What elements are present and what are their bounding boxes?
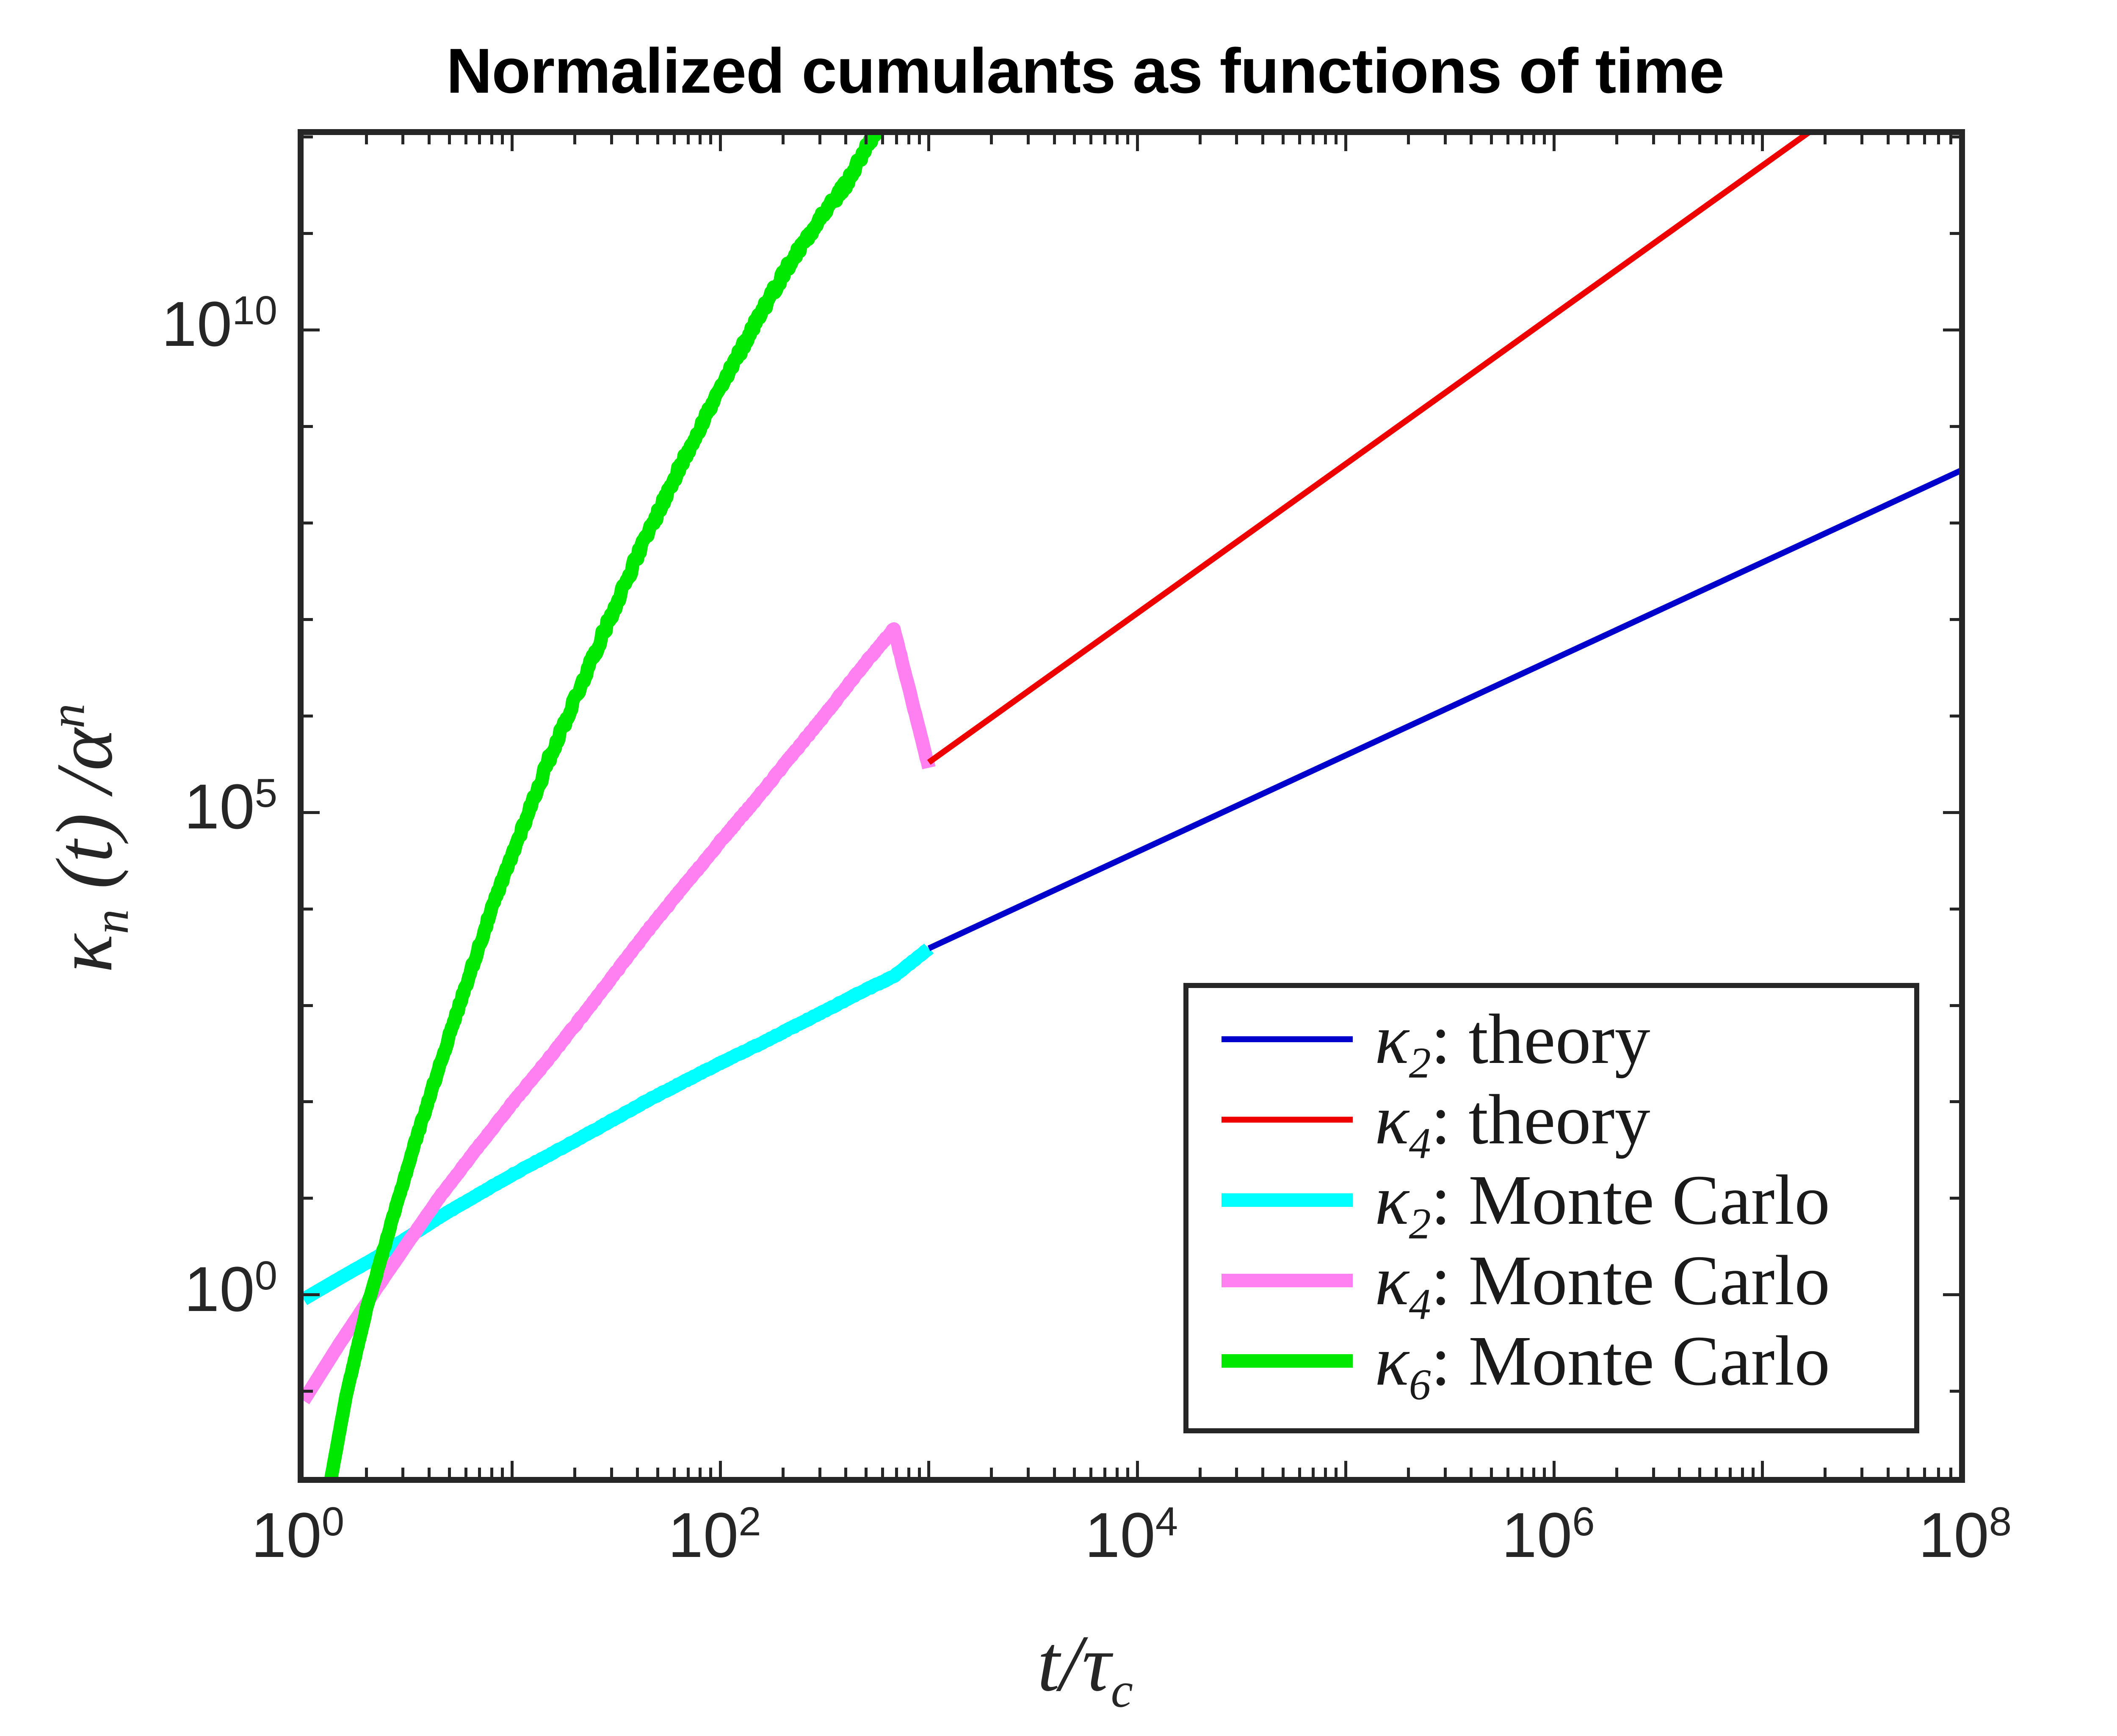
x-tick-minor-top xyxy=(1960,135,1963,144)
y-tick-label-1e5: 105 xyxy=(108,775,277,838)
y-tick-label-1e10: 1010 xyxy=(108,292,277,356)
curve-kappa4-monte-carlo xyxy=(304,629,929,1401)
legend-entry-2[interactable]: κ4: theory xyxy=(1188,1079,1914,1160)
legend-entry-5[interactable]: κ6: Monte Carlo xyxy=(1188,1321,1914,1401)
x-tick-label-1e2: 102 xyxy=(668,1503,761,1567)
legend-entry-4[interactable]: κ4: Monte Carlo xyxy=(1188,1240,1914,1321)
legend-line-swatch xyxy=(1222,1036,1353,1042)
legend-line-swatch xyxy=(1222,1117,1353,1123)
x-tick-label-1e8: 108 xyxy=(1918,1503,2012,1567)
y-axis-title: κn (t) /αn xyxy=(42,330,127,1346)
x-tick-minor xyxy=(1960,1468,1963,1477)
legend-entry-1[interactable]: κ2: theory xyxy=(1188,999,1914,1079)
legend-line-swatch xyxy=(1222,1274,1353,1287)
curve-kappa2-theory xyxy=(929,466,1965,949)
legend-entry-3[interactable]: κ2: Monte Carlo xyxy=(1188,1160,1914,1240)
legend-line-swatch xyxy=(1222,1354,1353,1368)
legend-entry-label: κ4: Monte Carlo xyxy=(1375,1245,1830,1316)
chart-title: Normalized cumulants as functions of tim… xyxy=(0,39,2117,102)
curve-kappa4-theory xyxy=(929,135,1965,762)
legend-entry-label: κ2: theory xyxy=(1375,1004,1650,1075)
x-tick-label-1e6: 106 xyxy=(1501,1503,1595,1567)
x-tick-label-1e0: 100 xyxy=(251,1503,344,1567)
legend-line-swatch xyxy=(1222,1193,1353,1207)
curve-kappa6-monte-carlo xyxy=(331,135,876,1480)
figure-root: Normalized cumulants as functions of tim… xyxy=(0,0,2117,1736)
x-axis-title: t/τc xyxy=(0,1621,2117,1706)
x-tick-label-1e4: 104 xyxy=(1085,1503,1178,1567)
legend-entry-label: κ6: Monte Carlo xyxy=(1375,1325,1830,1397)
y-tick-label-1e0: 100 xyxy=(108,1257,277,1321)
legend-box: κ2: theoryκ4: theoryκ2: Monte Carloκ4: M… xyxy=(1183,983,1919,1433)
legend-entry-label: κ4: theory xyxy=(1375,1084,1650,1155)
legend-entry-label: κ2: Monte Carlo xyxy=(1375,1165,1830,1236)
